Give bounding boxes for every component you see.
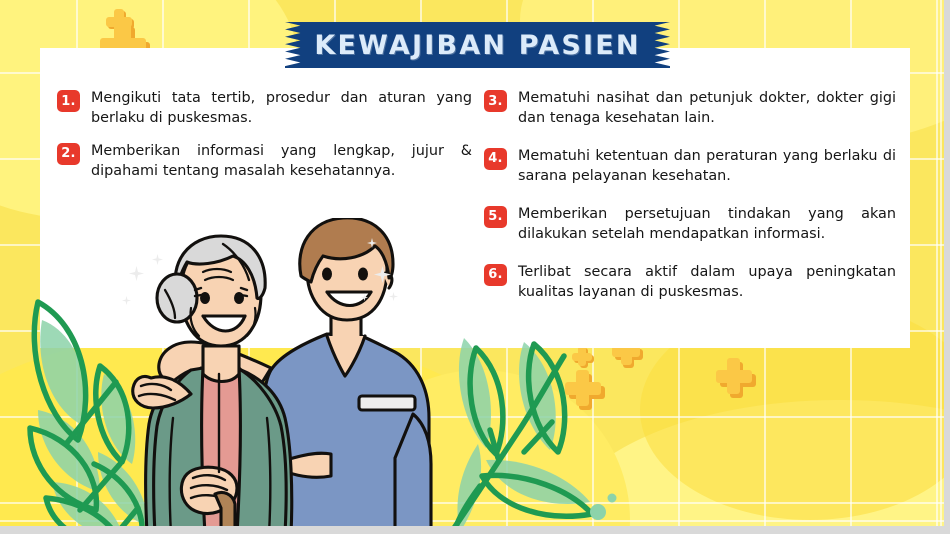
leaf-sprig-right bbox=[420, 326, 630, 534]
list-item: 2. Memberikan informasi yang lengkap, ju… bbox=[57, 141, 472, 182]
list-item-text: Memberikan persetujuan tindakan yang aka… bbox=[518, 204, 896, 245]
list-item-number: 5. bbox=[484, 206, 507, 228]
list-item-number: 4. bbox=[484, 148, 507, 170]
list-item-text: Terlibat secara aktif dalam upaya pening… bbox=[518, 262, 896, 303]
list-item-text: Mematuhi nasihat dan petunjuk dokter, do… bbox=[518, 88, 896, 129]
list-item-number: 3. bbox=[484, 90, 507, 112]
list-item: 3. Mematuhi nasihat dan petunjuk dokter,… bbox=[484, 88, 896, 129]
list-item: 4. Mematuhi ketentuan dan peraturan yang… bbox=[484, 146, 896, 187]
list-item-number: 6. bbox=[484, 264, 507, 286]
list-item-number: 2. bbox=[57, 143, 80, 165]
list-item-text: Mengikuti tata tertib, prosedur dan atur… bbox=[91, 88, 472, 129]
plus-icon bbox=[716, 358, 752, 394]
canvas-right-border bbox=[944, 0, 950, 534]
list-item-text: Mematuhi ketentuan dan peraturan yang be… bbox=[518, 146, 896, 187]
title-banner: KEWAJIBAN PASIEN bbox=[285, 22, 670, 68]
page-title: KEWAJIBAN PASIEN bbox=[285, 22, 670, 68]
canvas-bottom-border bbox=[0, 526, 950, 534]
illustration-patient-and-nurse bbox=[95, 218, 435, 534]
list-item: 1. Mengikuti tata tertib, prosedur dan a… bbox=[57, 88, 472, 129]
list-item-number: 1. bbox=[57, 90, 80, 112]
list-item: 6. Terlibat secara aktif dalam upaya pen… bbox=[484, 262, 896, 303]
obligations-list-right: 3. Mematuhi nasihat dan petunjuk dokter,… bbox=[484, 88, 896, 320]
obligations-list-left: 1. Mengikuti tata tertib, prosedur dan a… bbox=[57, 88, 472, 194]
list-item-text: Memberikan informasi yang lengkap, jujur… bbox=[91, 141, 472, 182]
list-item: 5. Memberikan persetujuan tindakan yang … bbox=[484, 204, 896, 245]
slide-canvas: KEWAJIBAN PASIEN 1. Mengikuti tata terti… bbox=[0, 0, 950, 534]
